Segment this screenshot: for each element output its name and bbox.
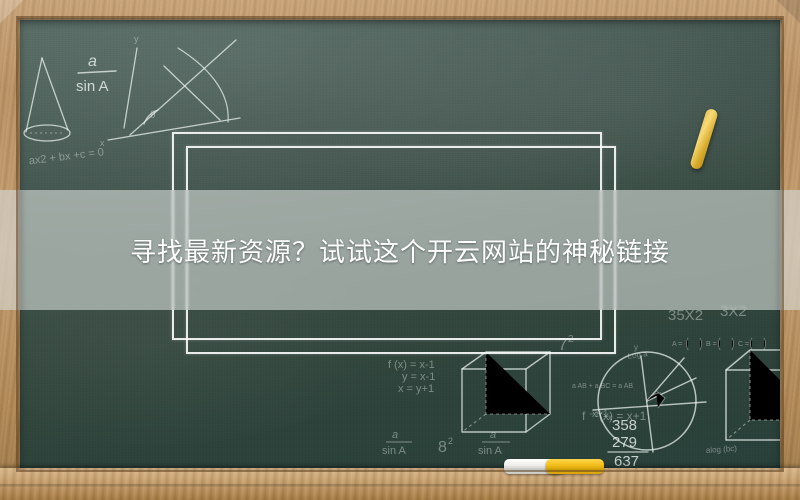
frame-inner-shadow — [18, 18, 782, 470]
chalk-tray-lip — [0, 484, 800, 487]
chalkboard-banner: a sin A y x θ ax2 — [0, 0, 800, 500]
